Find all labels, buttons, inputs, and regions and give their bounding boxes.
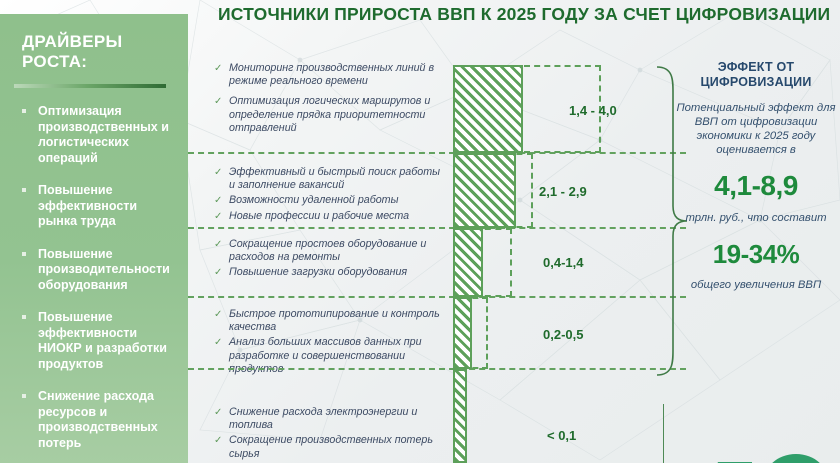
sidebar-item-rnd[interactable]: Повышение эффективности НИОКР и разработ… [22, 310, 174, 372]
bar-value-label-1: 1,4 - 4,0 [569, 103, 617, 118]
bar-fill-1 [453, 65, 523, 153]
right-panel-vertical-rule [663, 404, 664, 463]
sidebar-list: Оптимизация производственных и логистиче… [22, 104, 174, 451]
effect-value-trillions: 4,1-8,9 [672, 170, 840, 202]
sidebar-item-label: Повышение эффективности НИОКР и разработ… [38, 310, 167, 371]
page-title: ИСТОЧНИКИ ПРИРОСТА ВВП К 2025 ГОДУ ЗА СЧ… [218, 4, 818, 25]
sidebar-heading: ДРАЙВЕРЫ РОСТА: [22, 32, 174, 72]
effect-value-percent: 19-34% [672, 239, 840, 270]
bar-fill-2 [453, 153, 516, 228]
effect-panel: ЭФФЕКТ ОТ ЦИФРОВИЗАЦИИ Потенциальный эфф… [672, 60, 840, 292]
sidebar-item-label: Повышение производительности оборудовани… [38, 247, 170, 292]
effect-panel-title: ЭФФЕКТ ОТ ЦИФРОВИЗАЦИИ [672, 60, 840, 90]
sidebar-item-label: Повышение эффективности рынка труда [38, 183, 137, 228]
sidebar-item-optimization[interactable]: Оптимизация производственных и логистиче… [22, 104, 174, 166]
sidebar-divider [14, 84, 166, 88]
sidebar-item-resource-savings[interactable]: Снижение расхода ресурсов и производстве… [22, 389, 174, 451]
corner-logo [710, 440, 830, 463]
bar-fill-4 [453, 297, 472, 369]
bar-fill-3 [453, 228, 483, 297]
effect-panel-description: Потенциальный эффект для ВВП от цифровиз… [672, 101, 840, 157]
sidebar-growth-drivers: ДРАЙВЕРЫ РОСТА: Оптимизация производстве… [0, 14, 188, 463]
sidebar-item-label: Снижение расхода ресурсов и производстве… [38, 389, 158, 450]
bar-value-label-4: 0,2-0,5 [543, 327, 583, 342]
bullet-icon [22, 315, 26, 319]
bullet-icon [22, 188, 26, 192]
bar-fill-5 [453, 369, 467, 463]
effect-percent-caption: общего увеличения ВВП [672, 278, 840, 292]
bullet-icon [22, 109, 26, 113]
sidebar-item-equipment[interactable]: Повышение производительности оборудовани… [22, 247, 174, 294]
bar-value-label-3: 0,4-1,4 [543, 255, 583, 270]
sidebar-item-label: Оптимизация производственных и логистиче… [38, 104, 169, 165]
bar-value-label-2: 2,1 - 2,9 [539, 184, 587, 199]
infographic-slide: ИСТОЧНИКИ ПРИРОСТА ВВП К 2025 ГОДУ ЗА СЧ… [0, 0, 840, 463]
effect-units: трлн. руб., что составит [672, 211, 840, 225]
bar-value-label-5: < 0,1 [547, 428, 576, 443]
bullet-icon [22, 394, 26, 398]
sidebar-item-labour-market[interactable]: Повышение эффективности рынка труда [22, 183, 174, 230]
bullet-icon [22, 252, 26, 256]
